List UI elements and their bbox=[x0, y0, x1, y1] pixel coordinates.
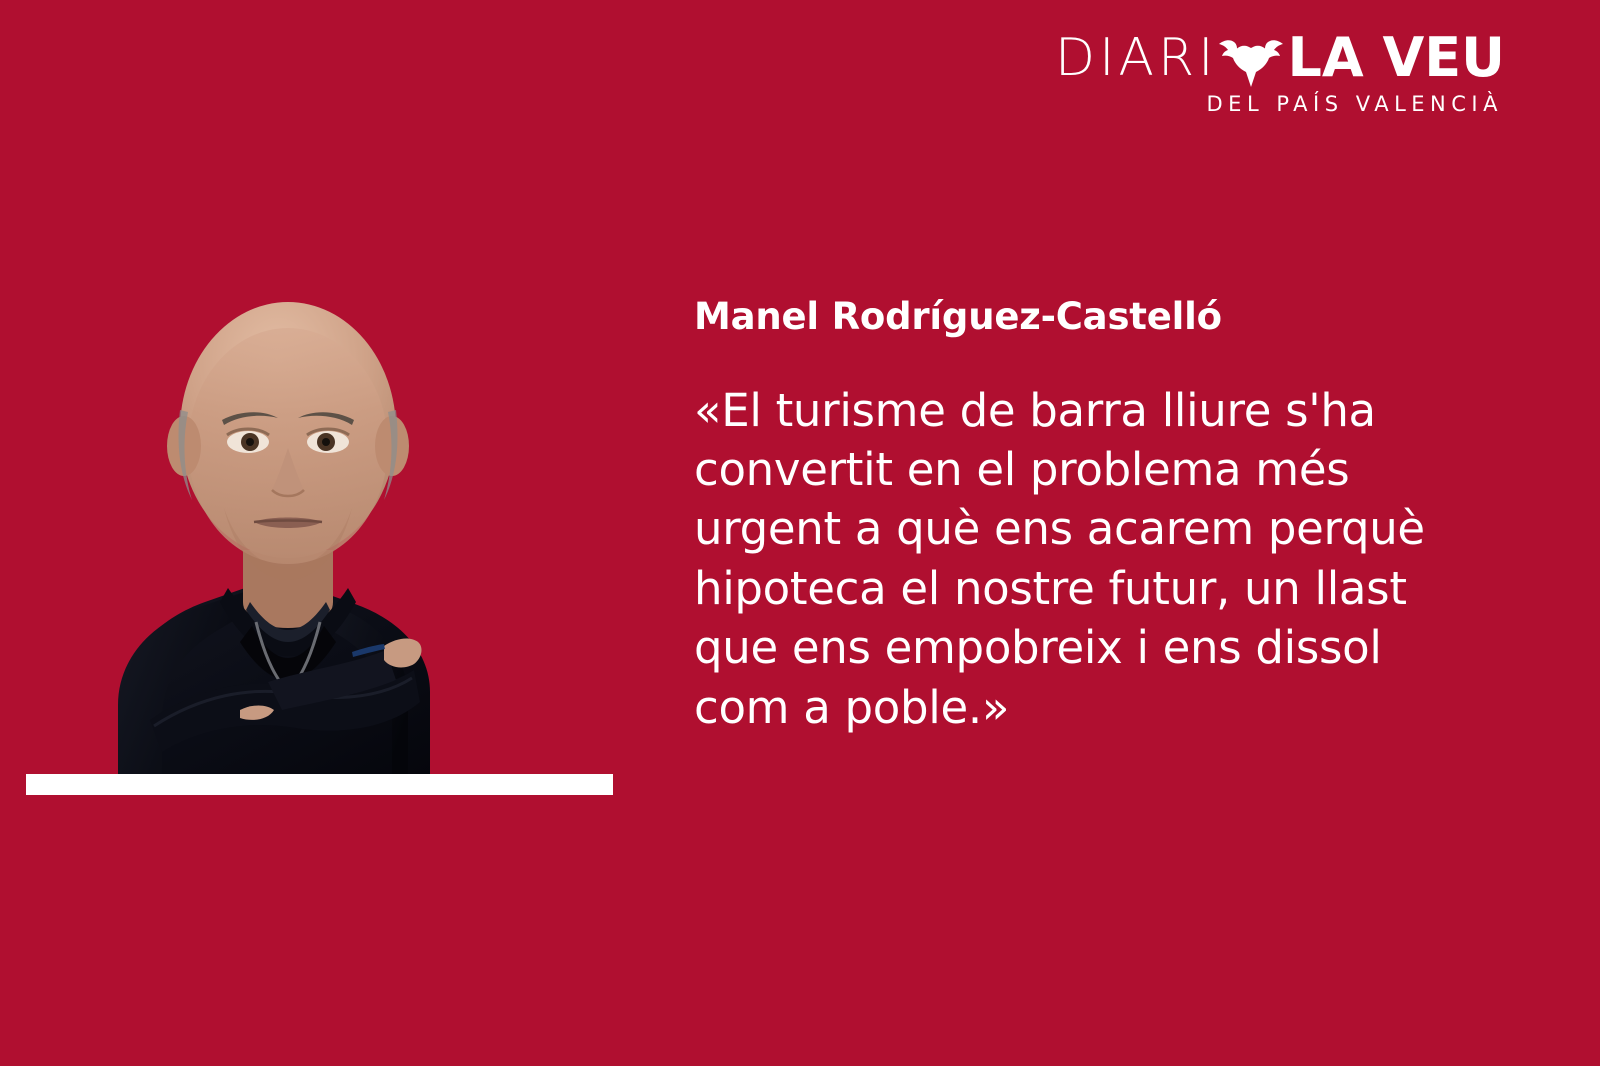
logo-subtitle: DEL PAÍS VALENCIÀ bbox=[1055, 94, 1505, 115]
portrait-underline-bar bbox=[26, 774, 613, 795]
speaker-name: Manel Rodríguez-Castelló bbox=[694, 296, 1484, 339]
speaker-portrait bbox=[0, 250, 620, 795]
quote-card: DIARI LA VEU DEL PAÍS VALENCIÀ bbox=[0, 0, 1600, 1066]
logo-word-diari: DIARI bbox=[1055, 32, 1217, 87]
brand-logo[interactable]: DIARI LA VEU DEL PAÍS VALENCIÀ bbox=[1055, 30, 1505, 115]
quote-text: «El turisme de barra lliure s'ha convert… bbox=[694, 381, 1484, 737]
logo-wordmark: DIARI LA VEU bbox=[1055, 30, 1505, 88]
bat-icon bbox=[1215, 31, 1287, 87]
quote-text-block: Manel Rodríguez-Castelló «El turisme de … bbox=[694, 296, 1484, 737]
logo-word-laveu: LA VEU bbox=[1287, 31, 1505, 87]
